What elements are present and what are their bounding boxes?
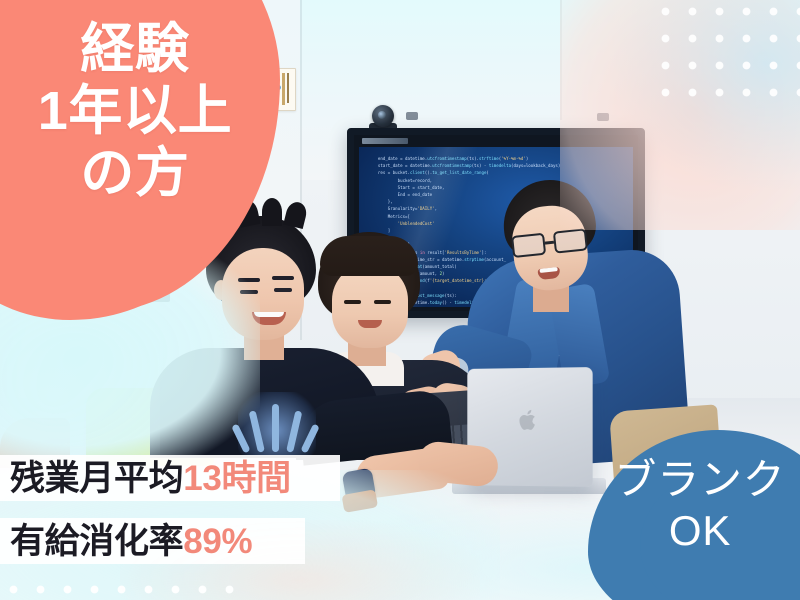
blue-badge-line-1: ブランク (600, 454, 800, 506)
tshirt-print (238, 392, 316, 456)
paid-leave-stat-value: 89% (183, 524, 252, 559)
overtime-stat-value: 13時間 (183, 461, 291, 496)
overtime-stat-banner: 残業月平均 13時間 (0, 455, 340, 501)
eye-left (240, 290, 258, 294)
brow-left (238, 278, 260, 282)
face (222, 248, 304, 340)
webcam-icon (372, 105, 394, 127)
wall-bracket-left (406, 112, 418, 120)
eye-left (344, 300, 361, 304)
eye-right (274, 288, 292, 292)
brow-right (272, 276, 294, 280)
wall-seam-secondary (560, 0, 562, 120)
hair-fringe (320, 236, 418, 276)
paid-leave-stat-label: 有給消化率 (10, 524, 183, 559)
recruitment-banner: end_date = datetime.utcfromtimestamp(ts)… (0, 0, 800, 600)
coral-badge-line-2: 1年以上 (10, 80, 260, 142)
coral-badge-line-3: の方 (10, 142, 260, 204)
eye-right (374, 300, 391, 304)
coral-badge-text: 経験 1年以上 の方 (10, 18, 260, 204)
apple-logo-icon (518, 408, 540, 432)
coral-badge-line-1: 経験 (10, 18, 260, 80)
overtime-stat-label: 残業月平均 (10, 461, 183, 496)
blue-badge-text: ブランク OK (600, 454, 800, 556)
smart-watch (342, 468, 377, 503)
blue-badge-line-2: OK (600, 506, 800, 556)
monitor-brand-logo (362, 138, 408, 144)
wall-bracket-right (597, 113, 609, 121)
face (332, 264, 408, 348)
paid-leave-stat-banner: 有給消化率 89% (0, 518, 305, 564)
